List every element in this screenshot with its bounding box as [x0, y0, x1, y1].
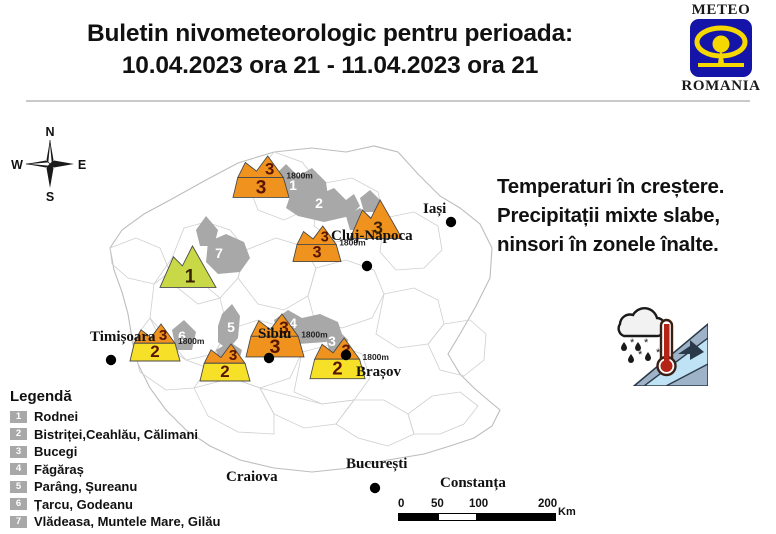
legend-item-6: 6Țarcu, Godeanu [10, 497, 258, 512]
marker-altitude-label: 1800m [301, 329, 328, 339]
legend-item-7: 7Vlădeasa, Muntele Mare, Gilău [10, 514, 258, 529]
city-dot-icon [362, 261, 372, 271]
svg-text:*: * [638, 349, 643, 361]
legend-item-label: Parâng, Șureanu [34, 479, 137, 494]
marker-body-level: 1 [185, 266, 196, 287]
legend-item-3: 3Bucegi [10, 444, 258, 459]
city-marker: Constanța [440, 475, 508, 494]
city-marker: București [346, 456, 407, 493]
marker-peak-level: 3 [265, 160, 274, 179]
forecast-line-2: Precipitații mixte slabe, [497, 201, 775, 230]
zone-badge-2: 2 [315, 195, 323, 211]
compass-rose: N S W E [8, 122, 92, 204]
city-dot-icon [341, 350, 351, 360]
compass-east-label: E [78, 158, 86, 172]
city-label: Timișoara [90, 329, 156, 345]
title-line-1: Buletin nivometeorologic pentru perioada… [20, 18, 640, 50]
forecast-summary: Temperaturi în creștere. Precipitații mi… [497, 172, 775, 259]
legend-item-2: 2Bistriței,Ceahlău, Călimani [10, 427, 258, 442]
marker-peak-level: 3 [159, 327, 167, 344]
legend-item-label: Țarcu, Godeanu [34, 497, 133, 512]
legend-item-label: Rodnei [34, 409, 78, 424]
legend-item-label: Făgăraș [34, 462, 84, 477]
logo-bottom-text: ROMANIA [671, 78, 771, 94]
page-title: Buletin nivometeorologic pentru perioada… [20, 18, 640, 82]
legend-item-4: 4Făgăraș [10, 462, 258, 477]
title-line-2: 10.04.2023 ora 21 - 11.04.2023 ora 21 [20, 50, 640, 82]
legend-item-label: Vlădeasa, Muntele Mare, Gilău [34, 514, 220, 529]
legend-item-label: Bucegi [34, 444, 77, 459]
weather-pictogram: * * * * [604, 294, 708, 386]
city-label: Cluj-Napoca [331, 228, 413, 244]
thermometer-rising-icon [658, 320, 676, 375]
logo-top-text: METEO [671, 2, 771, 18]
legend-zone-badge: 5 [10, 481, 27, 493]
marker-peak-level: 3 [321, 229, 329, 245]
scale-tick-0: 0 [398, 498, 404, 510]
marker-body-level: 2 [220, 362, 229, 381]
city-label: Constanța [440, 475, 506, 491]
zone-badge-3: 3 [328, 333, 336, 349]
marker-body-level: 3 [256, 177, 267, 198]
marker-altitude-label: 1800m [363, 352, 390, 362]
meteo-romania-logo: METEO ROMANIA [671, 2, 771, 98]
cloud-icon [619, 308, 666, 336]
compass-north-label: N [45, 125, 54, 139]
city-label: Iași [423, 201, 446, 217]
header-divider [26, 100, 750, 102]
legend-zone-badge: 1 [10, 411, 27, 423]
city-label: București [346, 456, 407, 472]
forecast-line-1: Temperaturi în creștere. [497, 172, 775, 201]
svg-text:*: * [630, 337, 635, 349]
scale-segments [398, 513, 556, 521]
compass-south-label: S [46, 190, 54, 204]
legend-title: Legendă [10, 388, 258, 405]
scale-unit-label: Km [558, 506, 576, 518]
legend-item-1: 1Rodnei [10, 409, 258, 424]
city-label: Brașov [356, 364, 402, 380]
legend-rows: 1Rodnei2Bistriței,Ceahlău, Călimani3Buce… [8, 409, 258, 529]
scale-tick-labels: 050100200 [398, 498, 568, 512]
city-dot-icon [446, 217, 456, 227]
legend-zone-badge: 4 [10, 463, 27, 475]
city-dot-icon [370, 483, 380, 493]
marker-body-level: 2 [332, 358, 342, 379]
compass-star-icon [26, 140, 74, 188]
zone-badge-5: 5 [227, 319, 235, 335]
map-scale-bar: 050100200 Km [398, 498, 568, 530]
forecast-line-3: ninsori în zonele înalte. [497, 230, 775, 259]
legend: Legendă 1Rodnei2Bistriței,Ceahlău, Călim… [8, 388, 258, 532]
zone-badge-7: 7 [215, 245, 223, 261]
marker-altitude-label: 1800m [286, 171, 313, 181]
logo-mark-icon [690, 19, 752, 77]
rain-snow-mix-icon: * * * * [621, 337, 661, 363]
legend-zone-badge: 6 [10, 498, 27, 510]
marker-altitude-label: 1800m [178, 336, 205, 346]
svg-text:*: * [644, 337, 649, 349]
marker-peak-level: 3 [229, 347, 237, 364]
city-dot-icon [264, 353, 274, 363]
scale-tick-50: 50 [431, 498, 444, 510]
bulletin-page: Buletin nivometeorologic pentru perioada… [0, 0, 776, 534]
marker-body-level: 3 [312, 244, 321, 262]
legend-zone-badge: 3 [10, 446, 27, 458]
city-label: Sibiu [258, 326, 291, 342]
legend-zone-badge: 2 [10, 428, 27, 440]
legend-item-5: 5Parâng, Șureanu [10, 479, 258, 494]
scale-tick-200: 200 [538, 498, 557, 510]
scale-tick-100: 100 [469, 498, 488, 510]
legend-item-label: Bistriței,Ceahlău, Călimani [34, 427, 198, 442]
city-dot-icon [106, 355, 116, 365]
compass-west-label: W [11, 158, 23, 172]
legend-zone-badge: 7 [10, 516, 27, 528]
logo-emblem [690, 19, 752, 77]
